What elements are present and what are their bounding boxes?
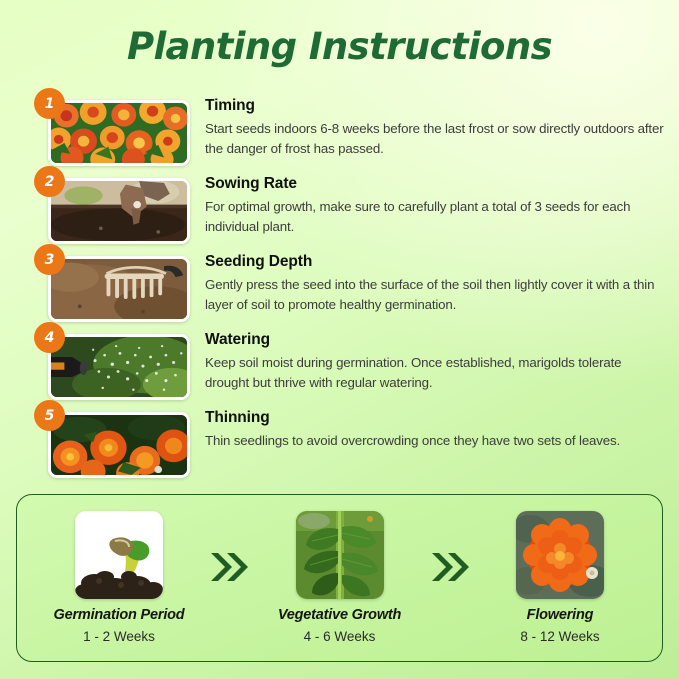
timeline-stage-flowering: Flowering 8 - 12 Weeks bbox=[480, 511, 640, 646]
step-item: 2 bbox=[0, 170, 679, 236]
step-number-badge: 5 bbox=[34, 400, 65, 431]
step-title: Watering bbox=[205, 330, 667, 350]
step-text: Timing Start seeds indoors 6-8 weeks bef… bbox=[205, 92, 667, 158]
double-chevron-right-icon bbox=[205, 550, 253, 584]
step-image-timing bbox=[48, 100, 190, 166]
step-item: 3 bbox=[0, 248, 679, 314]
growth-timeline-card: Germination Period 1 - 2 Weeks bbox=[16, 494, 663, 662]
timeline-stage-label: Vegetative Growth bbox=[260, 606, 420, 625]
step-text: Watering Keep soil moist during germinat… bbox=[205, 326, 667, 392]
step-description: Gently press the seed into the surface o… bbox=[205, 275, 667, 314]
step-text: Seeding Depth Gently press the seed into… bbox=[205, 248, 667, 314]
planting-steps-list: 1 bbox=[0, 92, 679, 482]
timeline-image-flowering bbox=[516, 511, 604, 599]
step-item: 5 bbox=[0, 404, 679, 470]
step-description: For optimal growth, make sure to careful… bbox=[205, 197, 667, 236]
step-thumbnail-wrap: 4 bbox=[48, 326, 190, 392]
timeline-stage-germination: Germination Period 1 - 2 Weeks bbox=[39, 511, 199, 646]
step-image-sowing-rate bbox=[48, 178, 190, 244]
timeline-stage-label: Germination Period bbox=[39, 606, 199, 625]
step-thumbnail-wrap: 5 bbox=[48, 404, 190, 470]
infographic-page: Planting Instructions 1 bbox=[0, 0, 679, 679]
step-description: Start seeds indoors 6-8 weeks before the… bbox=[205, 119, 667, 158]
step-image-seeding-depth bbox=[48, 256, 190, 322]
step-number-badge: 4 bbox=[34, 322, 65, 353]
step-item: 4 bbox=[0, 326, 679, 392]
step-title: Seeding Depth bbox=[205, 252, 667, 272]
step-description: Thin seedlings to avoid overcrowding onc… bbox=[205, 431, 620, 451]
step-thumbnail-wrap: 2 bbox=[48, 170, 190, 236]
timeline-image-vegetative bbox=[296, 511, 384, 599]
step-text: Sowing Rate For optimal growth, make sur… bbox=[205, 170, 667, 236]
step-title: Timing bbox=[205, 96, 667, 116]
timeline-image-germination bbox=[75, 511, 163, 599]
step-item: 1 bbox=[0, 92, 679, 158]
step-number-badge: 3 bbox=[34, 244, 65, 275]
page-title: Planting Instructions bbox=[0, 24, 679, 70]
step-image-watering bbox=[48, 334, 190, 400]
step-title: Thinning bbox=[205, 408, 620, 428]
timeline-stage-duration: 1 - 2 Weeks bbox=[39, 627, 199, 646]
timeline-stage-duration: 4 - 6 Weeks bbox=[260, 627, 420, 646]
timeline-stage-duration: 8 - 12 Weeks bbox=[480, 627, 640, 646]
step-title: Sowing Rate bbox=[205, 174, 667, 194]
double-chevron-right-icon bbox=[426, 550, 474, 584]
step-number-badge: 2 bbox=[34, 166, 65, 197]
step-description: Keep soil moist during germination. Once… bbox=[205, 353, 667, 392]
step-image-thinning bbox=[48, 412, 190, 478]
timeline-stage-vegetative: Vegetative Growth 4 - 6 Weeks bbox=[260, 511, 420, 646]
timeline-stage-label: Flowering bbox=[480, 606, 640, 625]
step-text: Thinning Thin seedlings to avoid overcro… bbox=[205, 404, 620, 451]
step-thumbnail-wrap: 1 bbox=[48, 92, 190, 158]
step-number-badge: 1 bbox=[34, 88, 65, 119]
step-thumbnail-wrap: 3 bbox=[48, 248, 190, 314]
